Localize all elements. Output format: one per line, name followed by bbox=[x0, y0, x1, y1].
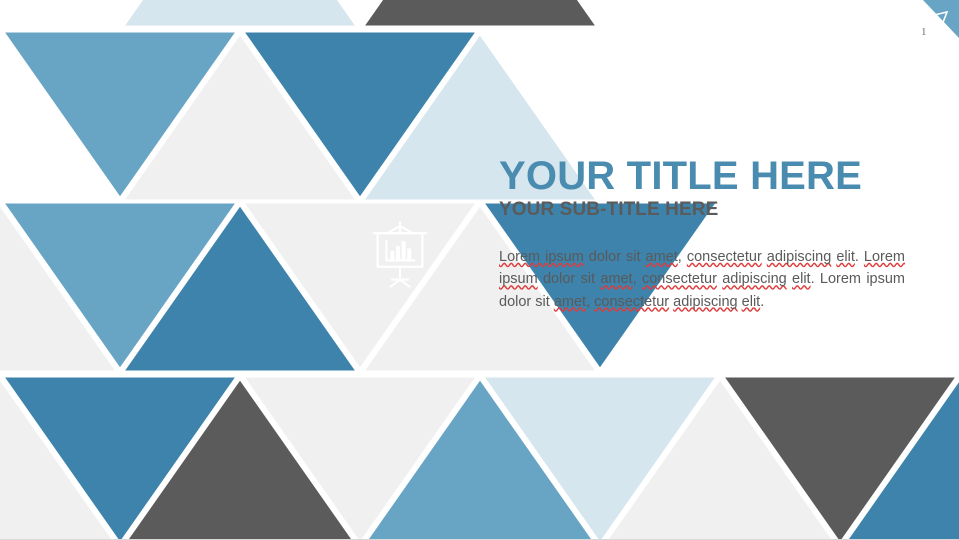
body-text-run: , bbox=[586, 294, 594, 310]
misspelled-word: consectetur bbox=[642, 271, 717, 287]
misspelled-word: elit bbox=[742, 294, 761, 310]
misspelled-word: amet bbox=[646, 249, 678, 265]
misspelled-word: adipiscing bbox=[673, 294, 738, 310]
slide-number: 1 bbox=[921, 26, 927, 38]
slide-text-block: YOUR TITLE HERE YOUR SUB-TITLE HERE Lore… bbox=[499, 155, 909, 313]
body-text-run: . bbox=[855, 249, 864, 265]
misspelled-word: consectetur bbox=[687, 249, 762, 265]
misspelled-word: Lorem ipsum bbox=[499, 249, 584, 265]
misspelled-word: adipiscing bbox=[722, 271, 787, 287]
body-text-run: dolor sit bbox=[538, 271, 601, 287]
page-title[interactable]: YOUR TITLE HERE bbox=[499, 155, 909, 197]
slide-canvas: YOUR TITLE HERE YOUR SUB-TITLE HERE Lore… bbox=[0, 0, 959, 540]
mosaic-triangle bbox=[605, 0, 835, 26]
misspelled-word: amet bbox=[554, 294, 586, 310]
misspelled-word: elit bbox=[836, 249, 855, 265]
misspelled-word: consectetur bbox=[594, 294, 669, 310]
body-paragraph[interactable]: Lorem ipsum dolor sit amet, consectetur … bbox=[499, 246, 905, 313]
badge-triangles bbox=[895, 0, 959, 64]
body-text-run: , bbox=[678, 249, 687, 265]
slide-number-badge: 1 bbox=[895, 0, 959, 64]
body-text-run: , bbox=[633, 271, 642, 287]
mosaic-triangle bbox=[125, 0, 355, 26]
body-text-run: dolor sit bbox=[584, 249, 646, 265]
page-subtitle[interactable]: YOUR SUB-TITLE HERE bbox=[499, 199, 909, 221]
misspelled-word: adipiscing bbox=[767, 249, 832, 265]
misspelled-word: elit bbox=[792, 271, 811, 287]
badge-blue-triangle bbox=[923, 0, 959, 38]
body-text-run: . bbox=[760, 294, 764, 310]
mosaic-triangle bbox=[365, 0, 595, 26]
misspelled-word: amet bbox=[600, 271, 632, 287]
